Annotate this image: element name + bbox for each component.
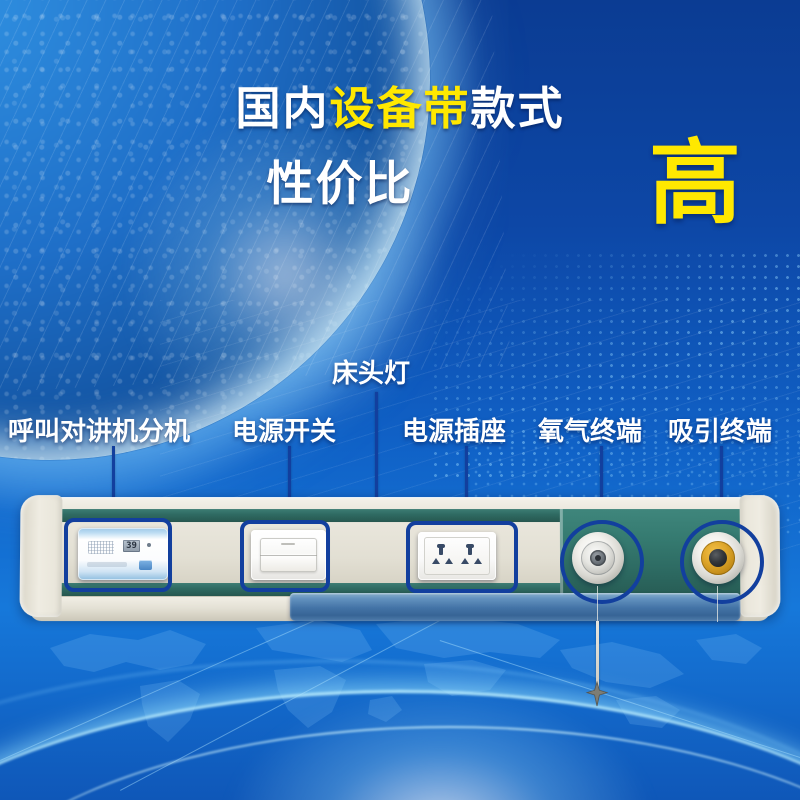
- panel-end-cap-left: [19, 495, 62, 617]
- pull-cord-weight-icon[interactable]: [583, 680, 611, 708]
- highlight-box-switch: [240, 520, 330, 592]
- cord-thread-oxygen: [597, 586, 598, 622]
- highlight-box-socket: [406, 521, 518, 593]
- headline-text-b: 款式: [471, 83, 565, 134]
- cord-thread-suction: [717, 586, 718, 622]
- callout-label-socket: 电源插座: [402, 418, 506, 444]
- bed-lamp-diffuser: [290, 593, 741, 621]
- callout-label-switch: 电源开关: [232, 418, 336, 444]
- callout-label-oxygen: 氧气终端: [538, 418, 642, 444]
- headline-text-a: 国内: [235, 83, 329, 134]
- highlight-ring-suction: [680, 520, 764, 604]
- pull-cord[interactable]: [596, 621, 599, 689]
- headline-highlight: 设备带: [329, 83, 470, 134]
- callout-label-intercom: 呼叫对讲机分机: [8, 418, 190, 444]
- headline-block: 国内设备带款式 性价比 高: [0, 86, 800, 131]
- callout-label-suction: 吸引终端: [668, 418, 772, 444]
- headline-line-1: 国内设备带款式: [0, 86, 800, 131]
- headline-emphasis-char: 高: [649, 138, 741, 230]
- promo-image: 国内设备带款式 性价比 高 呼叫对讲机分机 电源开关 床头灯 电源插座 氧气终端…: [0, 0, 800, 800]
- headline-line-2: 性价比: [267, 160, 414, 207]
- callout-label-bedlamp: 床头灯: [332, 360, 410, 386]
- highlight-box-intercom: [64, 518, 172, 592]
- highlight-ring-oxygen: [560, 520, 644, 604]
